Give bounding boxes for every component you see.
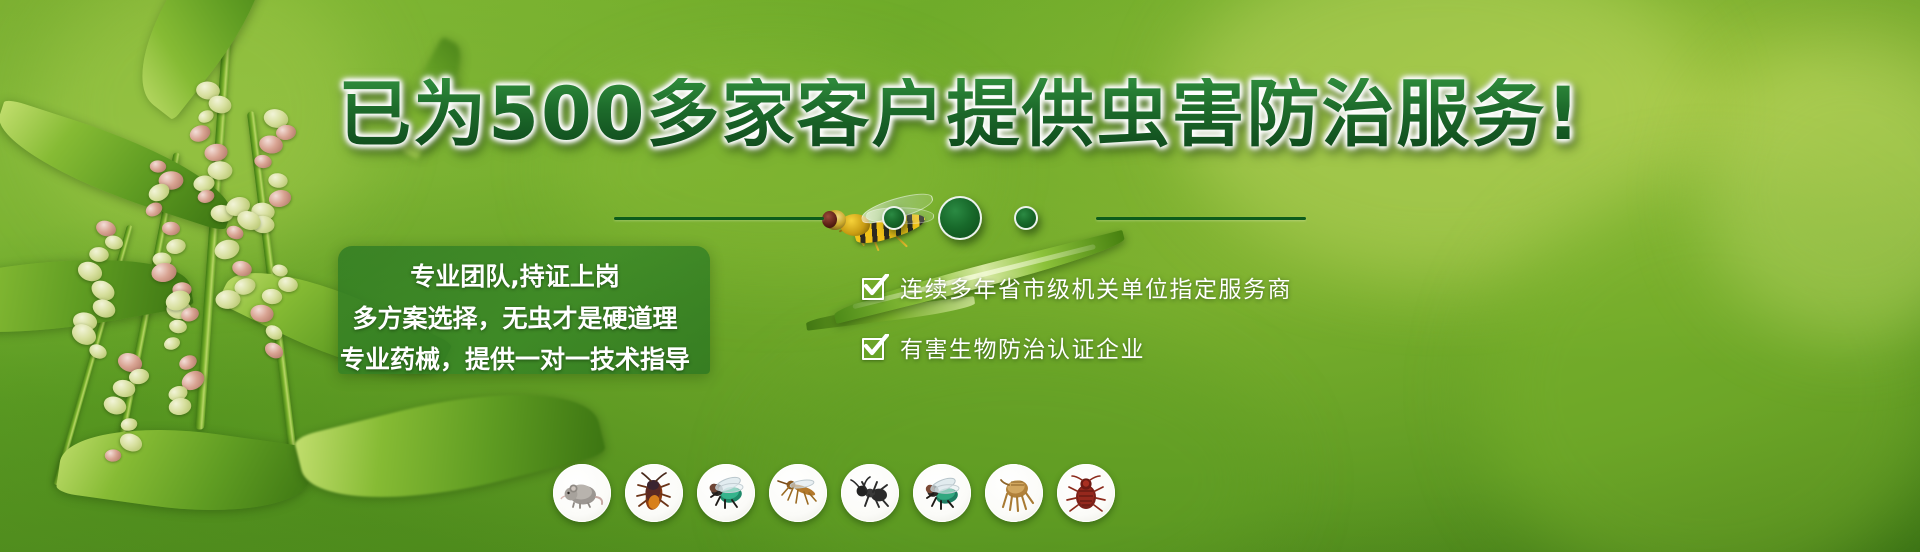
flower-bud [168,319,187,335]
feature-line-1: 专业团队,持证上岗 [410,258,620,296]
page-title: 已为500多家客户提供虫害防治服务! [0,78,1920,151]
checklist-item: 有害生物防治认证企业 [862,330,1502,364]
feature-line-3: 专业药械，提供一对一技术指导 [340,341,690,379]
cockroach-icon[interactable] [625,464,683,522]
blowfly-icon[interactable] [697,464,755,522]
leaf [56,413,315,527]
flower-bud [267,173,288,189]
rodent-icon[interactable] [553,464,611,522]
promo-banner: 已为500多家客户提供虫害防治服务! 专业团队,持证上岗 多方案选择，无虫才是硬… [0,0,1920,552]
credentials-checklist: 连续多年省市级机关单位指定服务商 有害生物防治认证企业 [862,270,1502,364]
pest-icon-strip [553,464,1115,522]
bedbug-icon[interactable] [1057,464,1115,522]
divider-dot-small-right [1014,206,1038,230]
divider-dot-small-left [882,206,906,230]
check-icon [862,275,887,300]
flower-bud [162,335,181,351]
feature-text-group: 专业团队,持证上岗 多方案选择，无虫才是硬道理 专业药械，提供一对一技术指导 [300,258,730,379]
mosquito-icon[interactable] [769,464,827,522]
divider-line-left [614,217,824,220]
divider-dot-large [938,196,982,240]
divider-line-right [1096,217,1306,220]
checklist-item: 连续多年省市级机关单位指定服务商 [862,270,1502,304]
housefly-icon[interactable] [913,464,971,522]
ant-icon[interactable] [841,464,899,522]
feature-line-2: 多方案选择，无虫才是硬道理 [352,300,677,338]
flea-icon[interactable] [985,464,1043,522]
check-icon [862,335,887,360]
checklist-item-label: 连续多年省市级机关单位指定服务商 [900,270,1292,304]
checklist-item-label: 有害生物防治认证企业 [900,330,1145,364]
decorative-divider [0,196,1920,240]
